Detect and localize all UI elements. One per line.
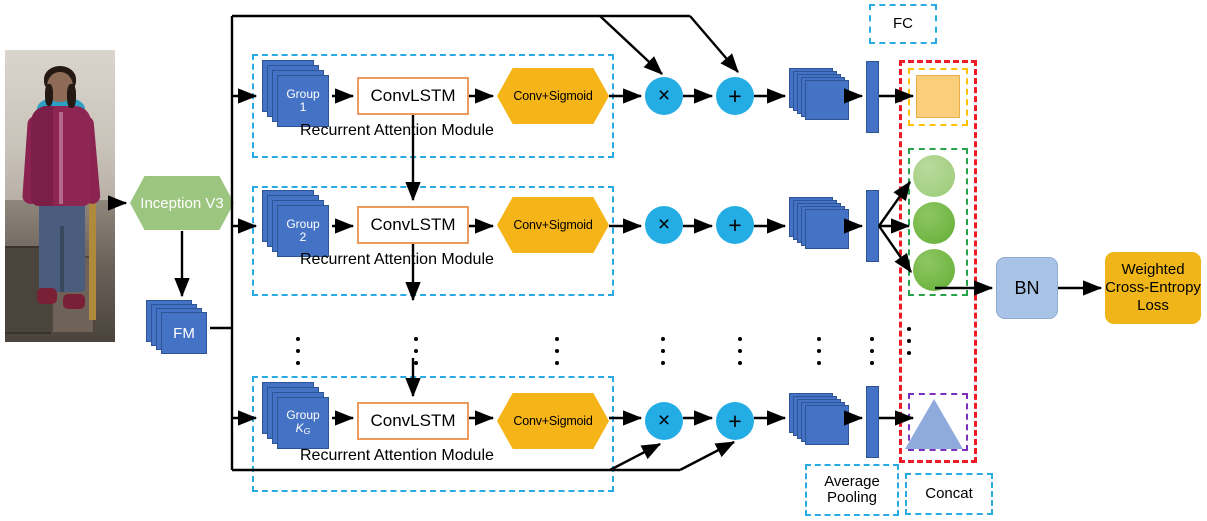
multiply-k-label: × [658, 409, 670, 433]
group-2-index: 2 [300, 231, 307, 244]
vertical-ellipsis-icon-convlstm [414, 337, 418, 373]
add-1-label: + [728, 83, 741, 110]
group-2-stack[interactable]: Group 2 [262, 190, 334, 260]
input-person-image [5, 50, 115, 342]
fc-green-circle-1[interactable] [913, 155, 955, 197]
average-pooling-label-line1: Average [824, 474, 880, 490]
loss-line-2: Cross-Entropy [1105, 279, 1201, 297]
bn-label: BN [1014, 278, 1039, 299]
bn-block[interactable]: BN [996, 257, 1058, 319]
vertical-ellipsis-icon-add [738, 337, 742, 373]
module-k-caption: Recurrent Attention Module [300, 447, 590, 469]
avg-pool-bar-1[interactable] [866, 61, 879, 133]
convlstm-1-label: ConvLSTM [370, 86, 455, 106]
add-icon-1[interactable]: + [716, 77, 754, 115]
diagram-canvas: Inception V3 FM Group 1 ConvLSTM Conv+Si… [0, 0, 1207, 521]
branch-k-output-stack[interactable] [789, 393, 855, 449]
convlstm-1[interactable]: ConvLSTM [357, 77, 469, 115]
average-pooling-label-line2: Pooling [827, 490, 877, 506]
branch-2-output-stack[interactable] [789, 197, 855, 253]
group-k-index: KG [296, 422, 311, 437]
add-icon-k[interactable]: + [716, 402, 754, 440]
group-1-index: 1 [300, 101, 307, 114]
group-k-stack[interactable]: Group KG [262, 382, 334, 452]
conv-sigmoid-2[interactable]: Conv+Sigmoid [497, 197, 609, 253]
feature-map-stack[interactable]: FM [146, 300, 210, 356]
feature-map-label: FM [173, 325, 195, 342]
module-1-caption: Recurrent Attention Module [300, 122, 590, 144]
avg-pool-bar-2[interactable] [866, 190, 879, 262]
multiply-1-label: × [658, 84, 670, 108]
add-icon-2[interactable]: + [716, 206, 754, 244]
add-2-label: + [728, 212, 741, 239]
fc-green-circle-3[interactable] [913, 249, 955, 291]
vertical-ellipsis-icon-attention [555, 337, 559, 373]
branch-1-output-stack[interactable] [789, 68, 855, 124]
fc-green-circle-2[interactable] [913, 202, 955, 244]
group-1-stack[interactable]: Group 1 [262, 60, 334, 130]
fc-label-box: FC [869, 4, 937, 44]
convlstm-2[interactable]: ConvLSTM [357, 206, 469, 244]
concat-label-box: Concat [905, 473, 993, 515]
vertical-ellipsis-icon-group [296, 337, 300, 373]
multiply-icon-2[interactable]: × [645, 206, 683, 244]
loss-line-3: Loss [1137, 297, 1169, 315]
conv-sigmoid-2-label: Conv+Sigmoid [513, 218, 592, 232]
concat-label: Concat [925, 486, 973, 502]
add-k-label: + [728, 408, 741, 435]
conv-sigmoid-1[interactable]: Conv+Sigmoid [497, 68, 609, 124]
module-2-caption: Recurrent Attention Module [300, 251, 590, 273]
inception-v3-label: Inception V3 [140, 195, 223, 212]
multiply-2-label: × [658, 213, 670, 237]
loss-block[interactable]: Weighted Cross-Entropy Loss [1105, 252, 1201, 324]
fc-yellow-square[interactable] [916, 75, 960, 118]
conv-sigmoid-1-label: Conv+Sigmoid [513, 89, 592, 103]
vertical-ellipsis-icon-pool [870, 337, 874, 373]
vertical-ellipsis-icon-stack [817, 337, 821, 373]
convlstm-2-label: ConvLSTM [370, 215, 455, 235]
concat-triangle[interactable] [905, 399, 963, 449]
vertical-ellipsis-icon-multiply [661, 337, 665, 373]
conv-sigmoid-k-label: Conv+Sigmoid [513, 414, 592, 428]
convlstm-k-label: ConvLSTM [370, 411, 455, 431]
avg-pool-bar-k[interactable] [866, 386, 879, 458]
average-pooling-label-box: Average Pooling [805, 464, 899, 516]
inception-v3-block[interactable]: Inception V3 [130, 176, 234, 230]
loss-line-1: Weighted [1121, 261, 1184, 279]
convlstm-k[interactable]: ConvLSTM [357, 402, 469, 440]
multiply-icon-1[interactable]: × [645, 77, 683, 115]
multiply-icon-k[interactable]: × [645, 402, 683, 440]
conv-sigmoid-k[interactable]: Conv+Sigmoid [497, 393, 609, 449]
fc-label: FC [893, 16, 913, 32]
